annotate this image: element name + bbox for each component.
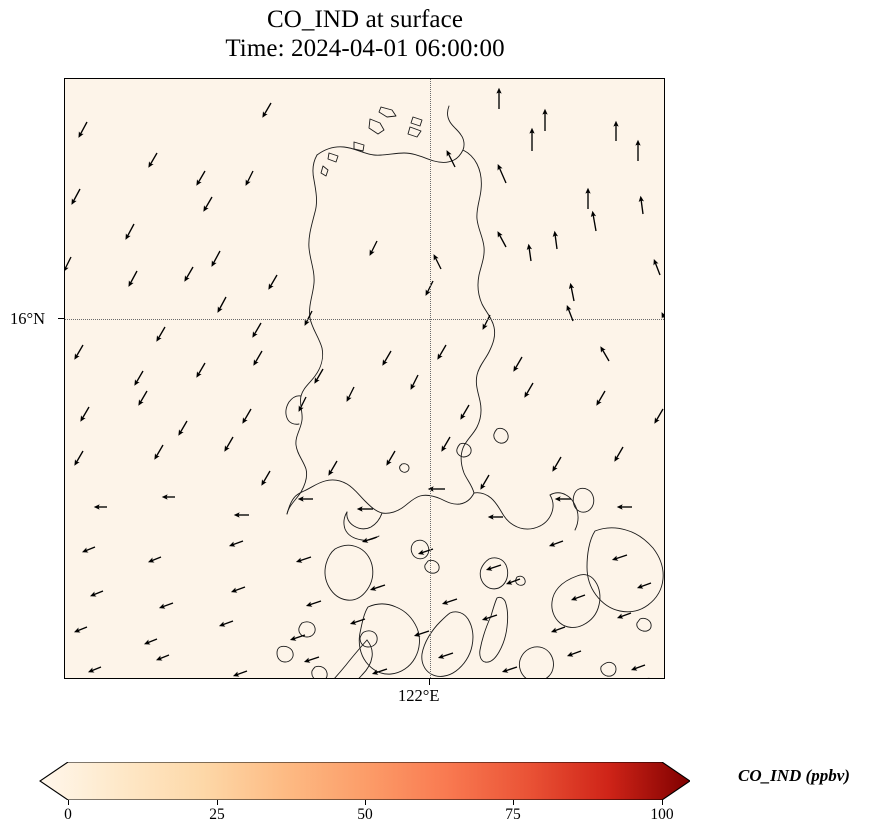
xtick-label-122e: 122°E xyxy=(398,686,439,706)
cbtick-75 xyxy=(513,800,514,805)
gridline-lat-16n xyxy=(65,319,664,320)
cbticklabel-0: 0 xyxy=(64,806,72,824)
title-line-time: Time: 2024-04-01 06:00:00 xyxy=(0,34,730,63)
page-title: CO_IND at surface Time: 2024-04-01 06:00… xyxy=(0,5,730,63)
cbticklabel-75: 75 xyxy=(505,806,521,824)
cbticklabel-100: 100 xyxy=(650,806,673,824)
cbtick-100 xyxy=(662,800,663,805)
ytick-mark-16n xyxy=(58,318,64,319)
cbtick-25 xyxy=(217,800,218,805)
wind-vectors xyxy=(65,79,665,679)
title-line-variable: CO_IND at surface xyxy=(0,5,730,34)
cbtick-0 xyxy=(68,800,69,805)
colorbar-tick-group: 0 25 50 75 100 xyxy=(38,762,690,822)
cbtick-50 xyxy=(365,800,366,805)
gridline-lon-122e xyxy=(430,79,431,678)
cbticklabel-25: 25 xyxy=(209,806,225,824)
colorbar[interactable]: 0 25 50 75 100 xyxy=(38,762,690,800)
cbticklabel-50: 50 xyxy=(357,806,373,824)
xtick-mark-122e xyxy=(429,679,430,685)
map-plot-area[interactable] xyxy=(64,78,665,679)
colorbar-label: CO_IND (ppbv) xyxy=(738,766,850,786)
ytick-label-16n: 16°N xyxy=(10,309,45,329)
